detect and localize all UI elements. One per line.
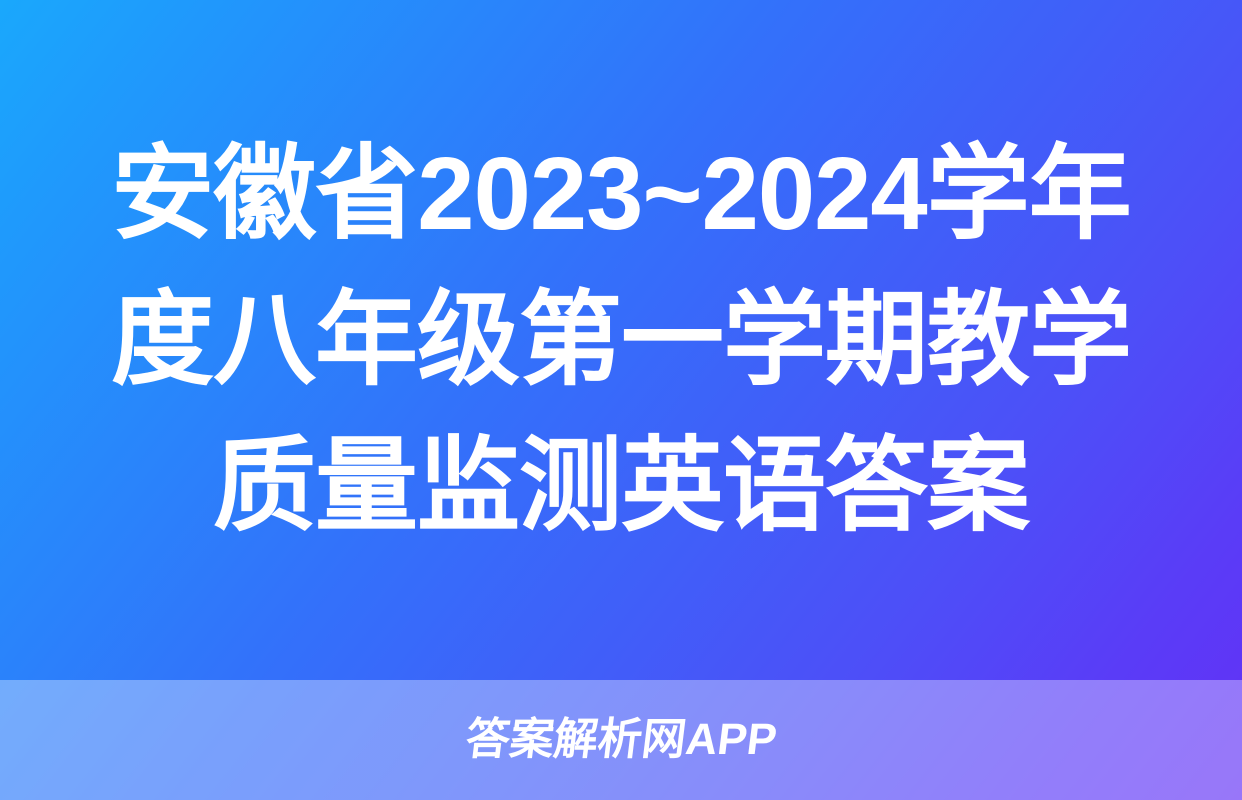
page-title: 安徽省2023~2024学年度八年级第一学期教学质量监测英语答案 [96,121,1146,560]
watermark-label: 答案解析网APP [463,718,779,762]
watermark-band: 答案解析网APP [0,680,1242,800]
hero-section: 安徽省2023~2024学年度八年级第一学期教学质量监测英语答案 [0,0,1242,680]
poster-canvas: 安徽省2023~2024学年度八年级第一学期教学质量监测英语答案 答案解析网AP… [0,0,1242,800]
